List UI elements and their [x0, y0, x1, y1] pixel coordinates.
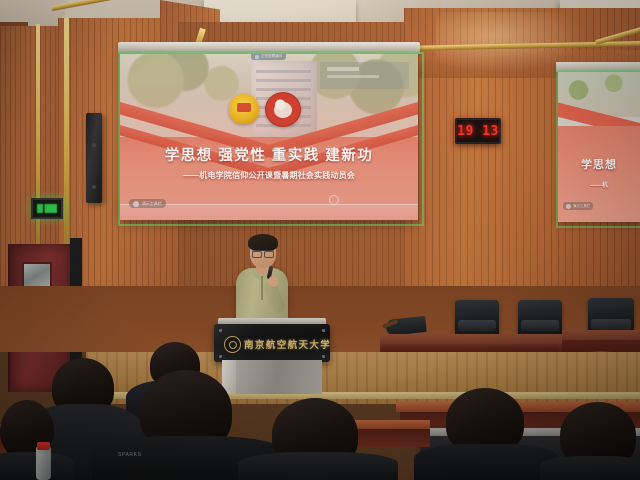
presenter-glasses	[252, 250, 274, 256]
exit-sign-glyph	[37, 204, 57, 213]
projector-osd-panel	[320, 62, 409, 89]
presenter-toolbar-label: 演示工具栏	[142, 201, 162, 207]
water-bottle	[36, 446, 51, 480]
door-window	[22, 262, 52, 288]
presentation-slide: 学思想 强党性 重实践 建新功 ——机电学院信仰公开课暨暑期社会实践动员会 演示…	[120, 54, 418, 220]
presenter-hand	[268, 276, 278, 287]
side-presenter-toolbar-icon	[566, 204, 571, 209]
podium-screw-tr	[322, 329, 325, 332]
slide-title: 学思想 强党性 重实践 建新功	[120, 144, 418, 165]
podium-base	[222, 360, 322, 394]
screencast-icon	[255, 55, 259, 59]
speaker-driver-bottom	[92, 185, 96, 189]
osd-bar-2	[327, 75, 379, 78]
audience-shoulders-4	[238, 452, 398, 480]
speaker-driver-top	[92, 143, 96, 147]
presenter-toolbar-icon	[133, 201, 139, 207]
main-projection-screen: 学思想 强党性 重实践 建新功 ——机电学院信仰公开课暨暑期社会实践动员会 演示…	[120, 54, 418, 220]
clock-time-readout: 19 13	[457, 124, 499, 139]
side-slide-subtitle: ——机	[558, 180, 640, 189]
audience-shoulders-5	[414, 444, 560, 480]
podium-screw-tl	[219, 329, 222, 332]
screencast-status-chip: 正在投屏演示	[251, 54, 286, 60]
slide-subtitle: ——机电学院信仰公开课暨暑期社会实践动员会	[120, 170, 418, 181]
side-slide-title: 学思想	[558, 156, 640, 172]
side-presenter-toolbar[interactable]: 演示工具栏	[563, 202, 594, 210]
lecture-hall-screenshot: 19 13 学思想 强党性 重实践 建新功 ——机电学院信仰公开课暨暑期社会实践…	[0, 0, 640, 480]
digital-clock: 19 13	[455, 118, 501, 144]
stage-chair-2[interactable]	[518, 300, 562, 336]
stage-chair-1[interactable]	[455, 300, 499, 336]
side-presenter-toolbar-label: 演示工具栏	[573, 204, 591, 209]
university-seal-icon	[265, 92, 301, 127]
audience-shoulders-6	[540, 456, 640, 480]
podium-front-panel: 南京航空航天大学	[214, 324, 330, 362]
screencast-label: 正在投屏演示	[261, 54, 282, 59]
exit-sign	[31, 198, 63, 219]
podium-name-plate: 南京航空航天大学	[244, 337, 330, 351]
wall-speaker	[86, 113, 102, 203]
presenter-toolbar[interactable]: 演示工具栏	[129, 199, 166, 208]
osd-bar-1	[327, 67, 359, 71]
projector-screen-housing	[118, 42, 420, 54]
water-bottle-cap	[37, 442, 50, 450]
presenter-shirt-placket	[261, 276, 263, 300]
side-projection-screen: 学思想 ——机 演示工具栏	[558, 72, 640, 222]
podium-screw-bl	[219, 355, 222, 358]
podium-crest-icon	[224, 336, 241, 353]
gear-icon[interactable]	[329, 195, 339, 205]
side-screen-housing	[556, 62, 640, 72]
shirt-print-text: SPARKS	[118, 452, 142, 458]
podium-screw-br	[322, 355, 325, 358]
communist-youth-league-badge-icon	[229, 94, 259, 124]
presenter-hair	[248, 234, 278, 251]
